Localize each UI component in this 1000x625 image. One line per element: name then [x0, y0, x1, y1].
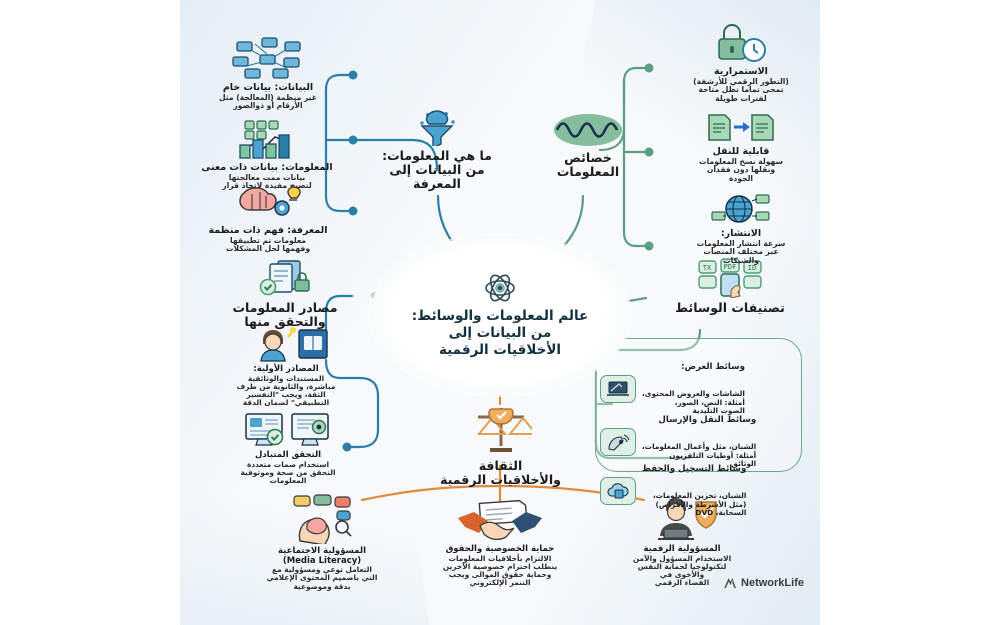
letterbox-right — [820, 0, 1000, 625]
media-item-storage[interactable]: وسائط التسجيل والحفظ الشبان، تخزين المعل… — [600, 447, 796, 535]
brain-gear-bulb-icon — [232, 185, 304, 223]
branch-title: تصنيفات الوسائط — [650, 301, 810, 315]
item-social-responsibility[interactable]: المسؤولية الاجتماعية (Media Literacy) ال… — [232, 494, 412, 591]
item-desc: سرعة انتشار المعلومات عبر مختلف المنصات … — [662, 240, 820, 266]
item-desc: التعامل توعي ومسؤولية مع التي باصميم الم… — [232, 566, 412, 591]
branch-label-digital-ethics[interactable]: الثقافة والأخلاقيات الرقمية — [418, 404, 583, 487]
branch-label-info-definition[interactable]: ما هي المعلومات: من البيانات إلى المعرفة — [378, 108, 496, 191]
center-hub: عالم المعلومات والوسائط: من البيانات إلى… — [370, 235, 630, 395]
center-title: عالم المعلومات والوسائط: من البيانات إلى… — [412, 308, 589, 359]
head-thoughts-icon — [276, 494, 368, 544]
item-desc: معلومات تم تطبيقها وفهمها لحل المشكلات — [190, 237, 346, 254]
item-title: وسائط النقل والإرسال — [642, 416, 756, 426]
media-item-text: وسائط التسجيل والحفظ الشبان، تخزين المعل… — [642, 447, 746, 535]
item-primary-sources[interactable]: المصادر الأولية: المستندات والوثائقية مب… — [200, 326, 372, 408]
funnel-brain-icon — [414, 108, 460, 146]
branch-title: الثقافة والأخلاقيات الرقمية — [418, 459, 583, 487]
file-transfer-icon — [703, 112, 779, 144]
branch-title: خصائص المعلومات — [528, 151, 648, 179]
verified-document-lock-icon — [256, 258, 314, 298]
branch-title: مصادر المعلومات والتحقق منها — [210, 301, 360, 329]
item-desc: الالتزام بأخلاقيات المعلومات ينطلب احترا… — [410, 555, 590, 588]
item-data-raw[interactable]: البيانات: بيانات خام غير منظمة (المعالجة… — [186, 36, 350, 111]
item-portability[interactable]: قابلية للنقل سهولة نسخ المعلومات ونقلها … — [662, 112, 820, 183]
cloud-storage-icon — [600, 477, 636, 505]
waveform-icon — [552, 112, 624, 148]
brand-logo: NetworkLife — [724, 577, 804, 589]
branch-label-media-types[interactable]: TXPDFID تصنيفات الوسائط — [650, 258, 810, 315]
brand-name: NetworkLife — [741, 577, 804, 589]
item-knowledge[interactable]: المعرفة: فهم ذات منظمة معلومات تم تطبيقه… — [190, 185, 346, 254]
network-nodes-icon — [229, 36, 307, 80]
letterbox-left — [0, 0, 180, 625]
globe-network-icon — [708, 190, 774, 226]
item-title: وسائط التسجيل والحفظ — [642, 465, 746, 475]
branch-title: ما هي المعلومات: من البيانات إلى المعرفة — [378, 149, 496, 191]
item-desc: المستندات والوثائقية مباشرة، والثانوية م… — [200, 375, 372, 408]
branch-label-info-properties[interactable]: خصائص المعلومات — [528, 112, 648, 179]
networklife-logo-icon — [724, 578, 737, 589]
item-desc: استخدام صمات متعددة التحقق من صحة وموثوق… — [202, 461, 374, 486]
atom-icon — [479, 271, 521, 305]
dual-screen-check-icon — [242, 412, 334, 448]
item-desc: (التطور الرقمي للأرشفة) تمحى تماما تظل م… — [660, 78, 822, 104]
svg-text:TX: TX — [703, 264, 712, 272]
item-continuity[interactable]: الاستمرارية (التطور الرقمي للأرشفة) تمحى… — [660, 24, 822, 103]
item-title: وسائط العرض: — [642, 363, 745, 373]
item-diffusion[interactable]: الانتشار: سرعة انتشار المعلومات عبر مختل… — [662, 190, 820, 265]
bar-chart-icon — [230, 118, 304, 160]
item-desc: غير منظمة (المعالجة) مثل الأرقام أو ذوال… — [186, 94, 350, 111]
lock-clock-icon — [711, 24, 771, 64]
handshake-document-icon — [454, 498, 546, 542]
item-title: المسؤولية الاجتماعية (Media Literacy) — [232, 547, 412, 566]
item-desc: سهولة نسخ المعلومات ونقلها دون فقدان الج… — [662, 158, 820, 184]
svg-text:ID: ID — [748, 264, 756, 272]
scales-balance-icon — [470, 404, 532, 456]
item-information[interactable]: المعلومات: بيانات ذات معنى بيانات ممت مع… — [188, 118, 346, 191]
branch-label-sources[interactable]: مصادر المعلومات والتحقق منها — [210, 258, 360, 329]
item-cross-verification[interactable]: التحقق المتبادل استخدام صمات متعددة التح… — [202, 412, 374, 485]
item-privacy-rights[interactable]: حماية الخصوصية والحقوق الالتزام بأخلاقيا… — [410, 498, 590, 588]
student-book-icon — [241, 326, 331, 362]
infographic-canvas: عالم المعلومات والوسائط: من البيانات إلى… — [0, 0, 1000, 625]
item-desc: الشبان، تخزين المعلومات، (مثل الأشرطة وا… — [642, 492, 746, 517]
